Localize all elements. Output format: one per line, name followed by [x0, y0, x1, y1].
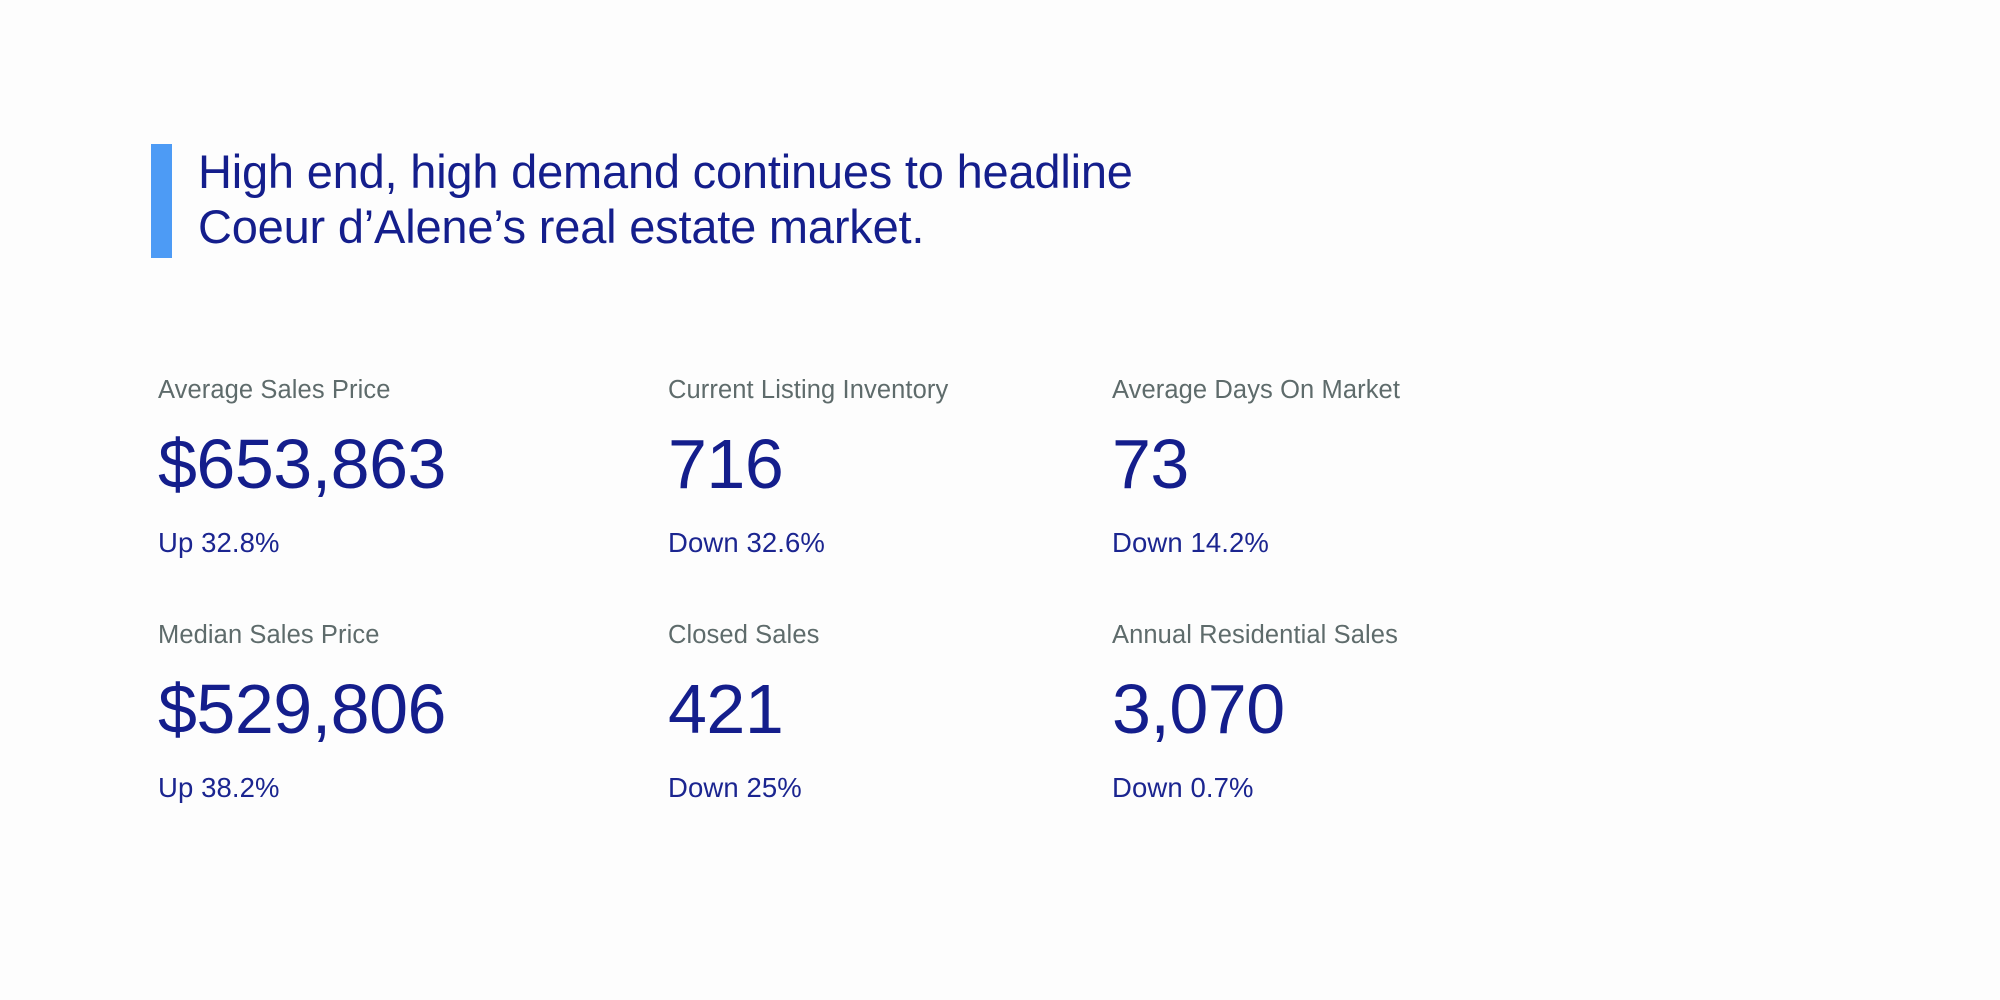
stat-median-sales-price: Median Sales Price $529,806 Up 38.2%: [158, 623, 668, 868]
stat-value: 73: [1112, 404, 1592, 499]
stat-change: Down 32.6%: [668, 499, 1112, 557]
headline-block: High end, high demand continues to headl…: [151, 144, 1133, 258]
accent-bar: [151, 144, 172, 258]
stat-value: $653,863: [158, 404, 668, 499]
stat-label: Median Sales Price: [158, 623, 668, 649]
stat-current-listing-inventory: Current Listing Inventory 716 Down 32.6%: [668, 378, 1112, 623]
stat-annual-residential-sales: Annual Residential Sales 3,070 Down 0.7%: [1112, 623, 1592, 868]
page-title: High end, high demand continues to headl…: [198, 144, 1133, 258]
stat-average-sales-price: Average Sales Price $653,863 Up 32.8%: [158, 378, 668, 623]
stat-value: $529,806: [158, 649, 668, 744]
stat-label: Average Days On Market: [1112, 378, 1592, 404]
infographic-canvas: High end, high demand continues to headl…: [0, 0, 2000, 1000]
stats-grid: Average Sales Price $653,863 Up 32.8% Cu…: [158, 378, 1658, 868]
stat-change: Down 14.2%: [1112, 499, 1592, 557]
stat-value: 3,070: [1112, 649, 1592, 744]
stat-change: Up 38.2%: [158, 744, 668, 802]
stat-value: 716: [668, 404, 1112, 499]
stat-closed-sales: Closed Sales 421 Down 25%: [668, 623, 1112, 868]
stat-label: Current Listing Inventory: [668, 378, 1112, 404]
stat-change: Down 25%: [668, 744, 1112, 802]
stat-value: 421: [668, 649, 1112, 744]
stat-average-days-on-market: Average Days On Market 73 Down 14.2%: [1112, 378, 1592, 623]
stat-label: Closed Sales: [668, 623, 1112, 649]
stat-label: Average Sales Price: [158, 378, 668, 404]
stat-change: Up 32.8%: [158, 499, 668, 557]
stat-change: Down 0.7%: [1112, 744, 1592, 802]
stat-label: Annual Residential Sales: [1112, 623, 1592, 649]
